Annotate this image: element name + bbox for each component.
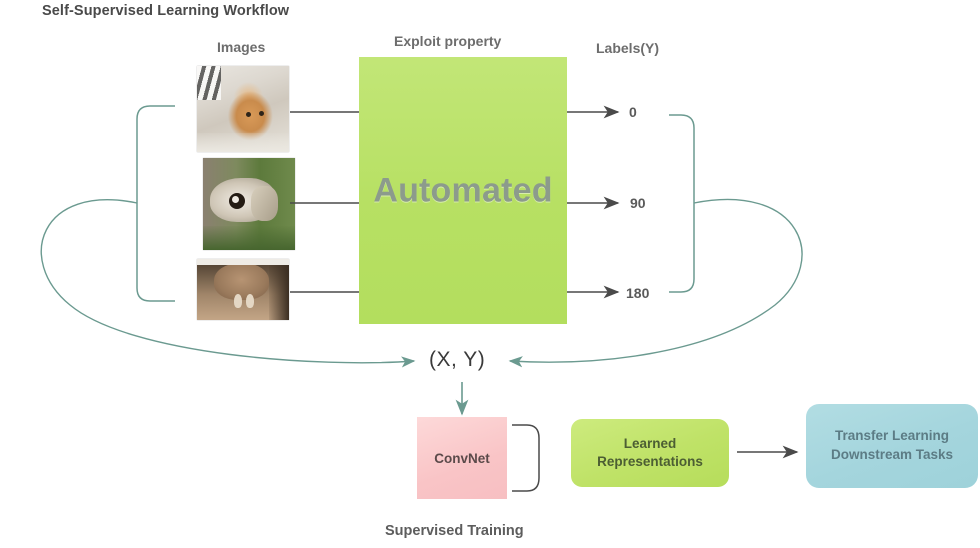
exploit-property-label: Automated	[359, 171, 567, 210]
arrow-exploit-to-labels	[567, 112, 618, 292]
convnet-box: ConvNet	[417, 417, 507, 499]
rotated-image-0	[197, 66, 289, 152]
right-bracket	[669, 115, 694, 292]
rotated-image-90	[203, 158, 295, 250]
transfer-label-line1: Transfer Learning	[835, 428, 949, 443]
transfer-learning-box: Transfer Learning Downstream Tasks	[806, 404, 978, 488]
transfer-label-line2: Downstream Tasks	[831, 447, 953, 462]
left-bracket	[137, 106, 175, 301]
convnet-label: ConvNet	[434, 451, 490, 466]
column-header-labels: Labels(Y)	[596, 40, 659, 56]
label-value-90: 90	[630, 195, 646, 211]
learned-representations-box: Learned Representations	[571, 419, 729, 487]
transfer-learning-label: Transfer Learning Downstream Tasks	[831, 427, 953, 465]
column-header-images: Images	[217, 39, 265, 55]
column-header-exploit: Exploit property	[394, 33, 501, 49]
joint-dataset-node: (X, Y)	[429, 348, 485, 372]
label-value-0: 0	[629, 104, 637, 120]
learned-label-line1: Learned	[624, 436, 677, 451]
learned-representations-label: Learned Representations	[597, 435, 703, 471]
learned-label-line2: Representations	[597, 454, 703, 469]
diagram-canvas: Self-Supervised Learning Workflow Images…	[0, 0, 980, 548]
convnet-brace	[512, 425, 539, 491]
supervised-training-caption: Supervised Training	[385, 523, 524, 539]
label-value-180: 180	[626, 285, 649, 301]
exploit-property-box: Automated	[359, 57, 567, 324]
rotated-image-180	[197, 259, 289, 320]
page-title: Self-Supervised Learning Workflow	[42, 3, 289, 19]
arrow-image-to-exploit	[290, 112, 359, 292]
